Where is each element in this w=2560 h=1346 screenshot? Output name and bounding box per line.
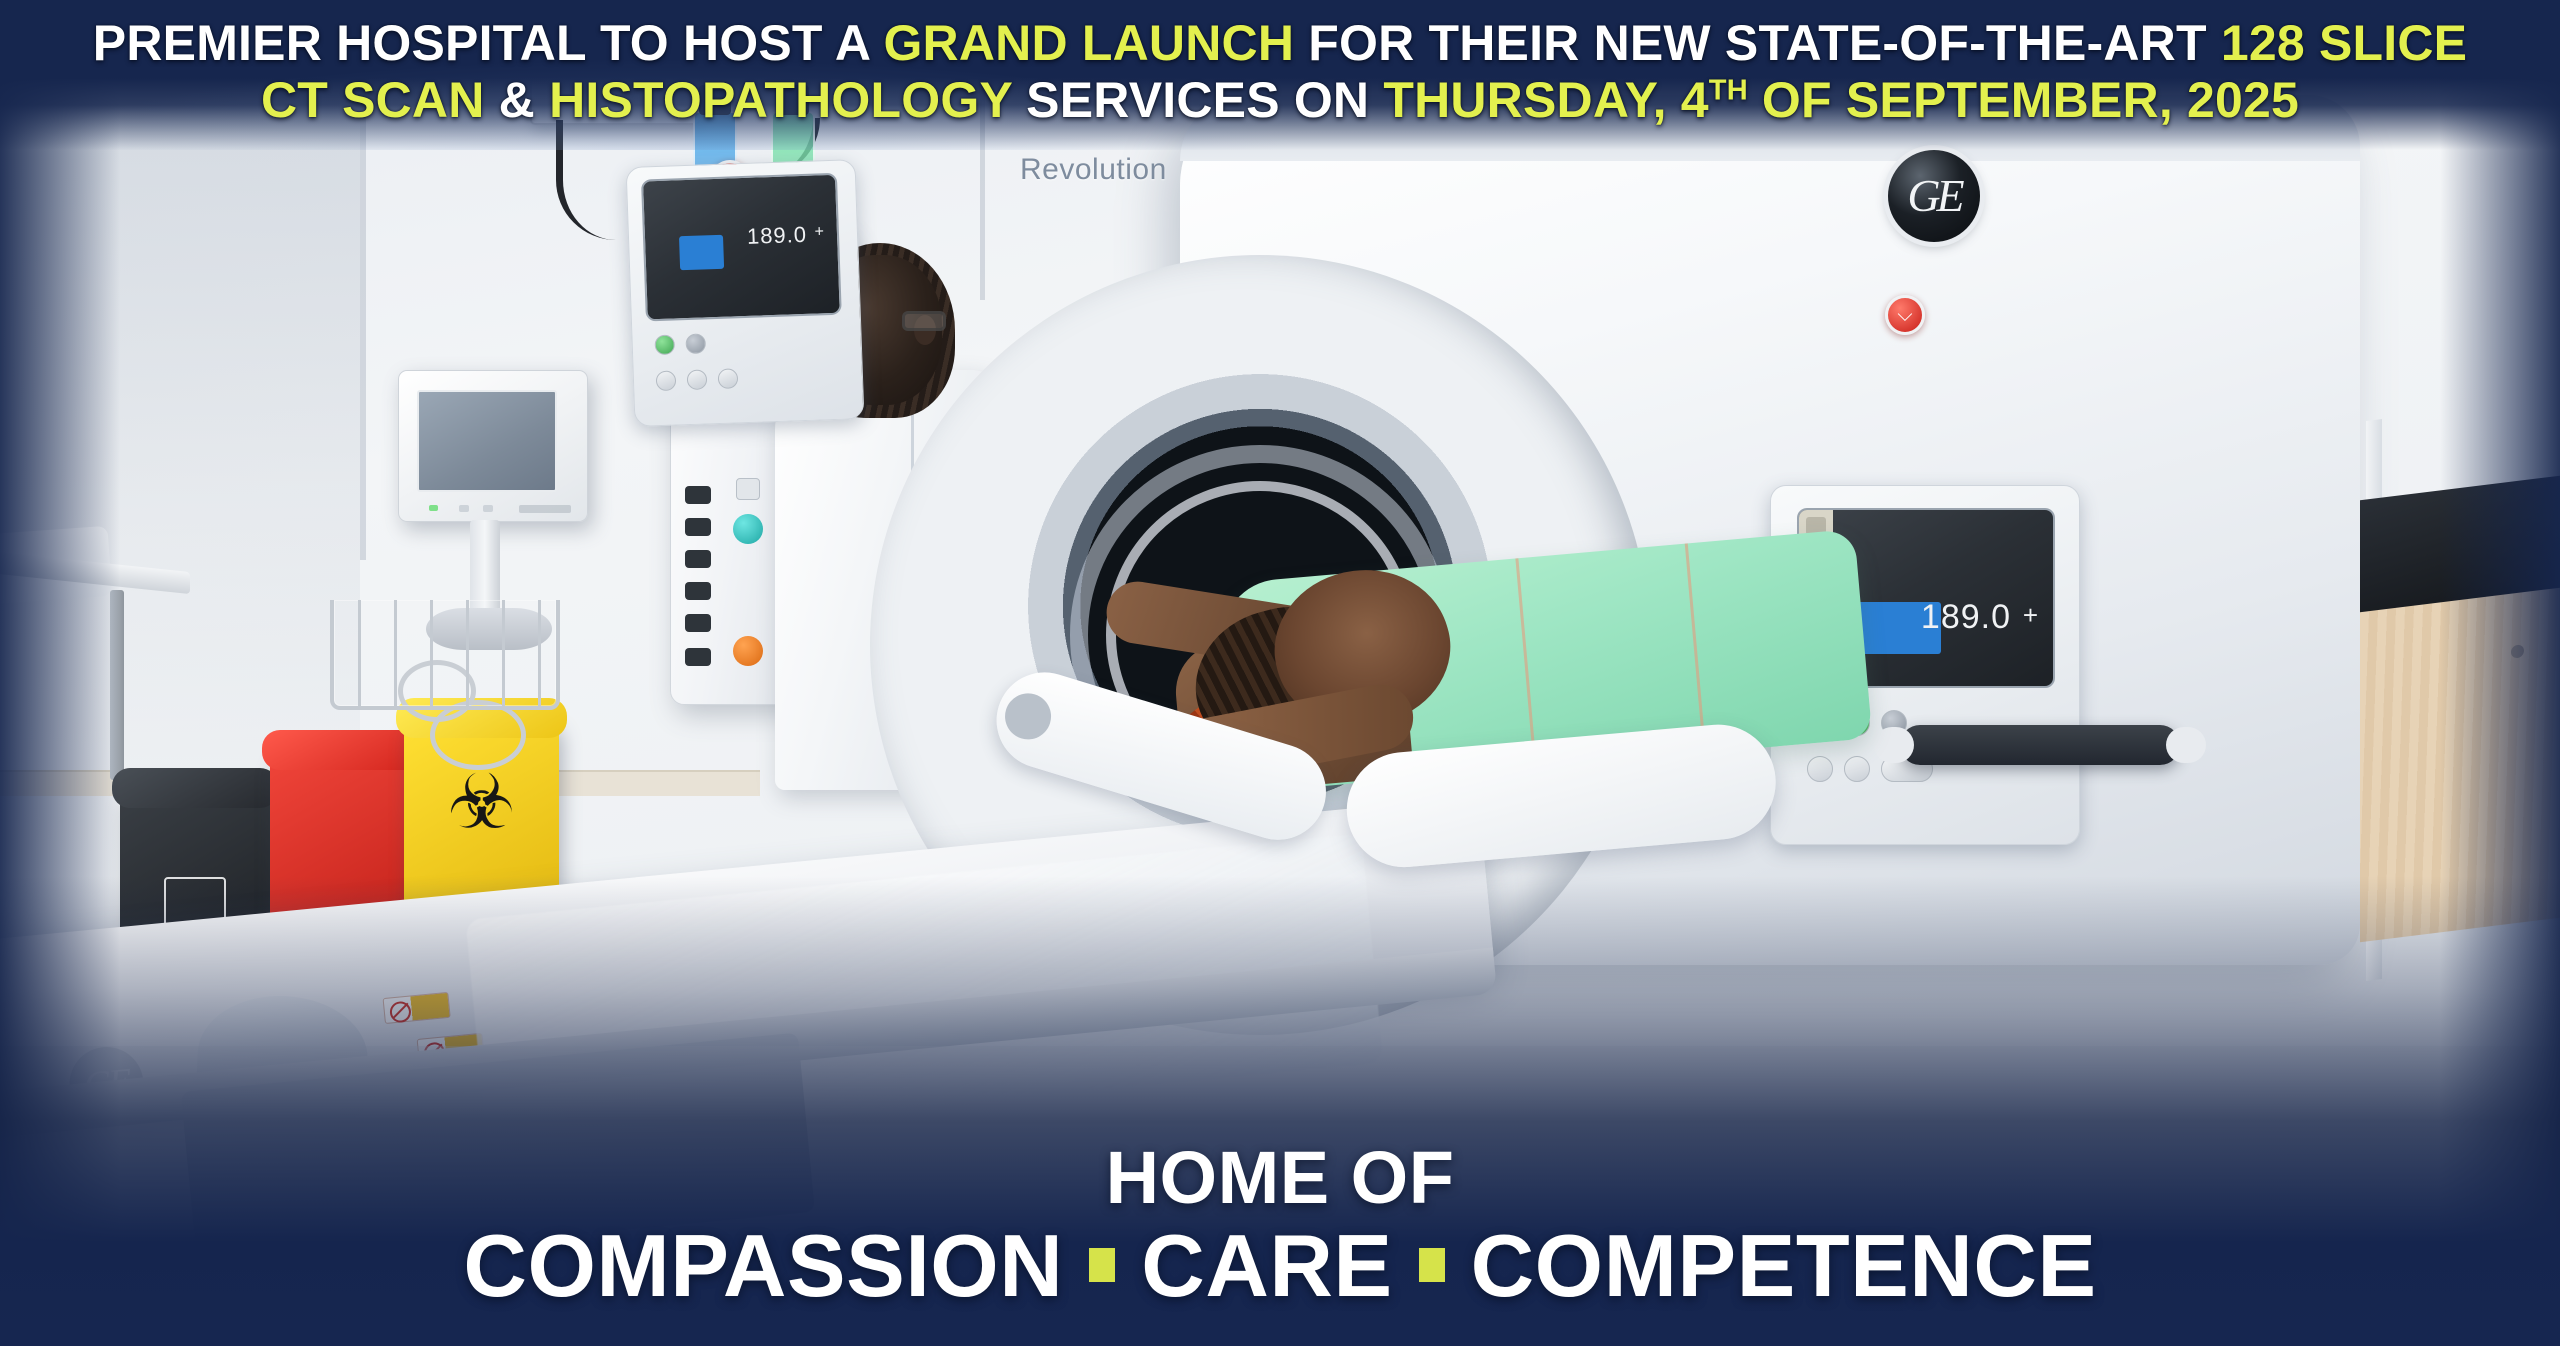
accessory-basket (330, 600, 560, 710)
injector-plus-button[interactable] (685, 648, 711, 666)
console-display-value: 189.0 (747, 222, 808, 250)
monitor-button[interactable] (483, 505, 493, 512)
tagline-word-competence: COMPETENCE (1471, 1219, 2097, 1312)
console-display-unit: + (814, 223, 825, 241)
tagline-word-compassion: COMPASSION (463, 1219, 1063, 1312)
headline-highlight-128-slice: 128 SLICE (2221, 15, 2467, 71)
console-button[interactable] (656, 370, 677, 391)
injector-step-button[interactable] (685, 550, 711, 568)
monitor-body (398, 370, 588, 522)
headline-text-part: FOR THEIR NEW STATE-OF-THE-ART (1294, 15, 2221, 71)
date-text: THURSDAY, 4 (1383, 72, 1708, 128)
monitor-screen (417, 390, 557, 492)
tagline-line-1: HOME OF (0, 1141, 2560, 1215)
tagline-separator-square-icon (1419, 1248, 1445, 1282)
scanner-product-name: Revolution (1020, 153, 1167, 187)
injector-up-button[interactable] (685, 486, 711, 504)
eyeglasses (902, 311, 946, 331)
gantry-display-unit: + (2023, 600, 2039, 631)
date-text: OF SEPTEMBER, 2025 (1748, 72, 2299, 128)
console-button-row[interactable] (654, 333, 706, 355)
scanner-console-panel[interactable]: 189.0 + (626, 159, 865, 427)
bin-lid (112, 768, 278, 808)
tagline-word-care: CARE (1141, 1219, 1392, 1312)
injector-down-button[interactable] (685, 614, 711, 632)
monitor-button[interactable] (459, 505, 469, 512)
gantry-display-value: 189.0 (1921, 598, 2011, 637)
headline-highlight-grand-launch: GRAND LAUNCH (883, 15, 1294, 71)
headline-text-part: & (485, 72, 550, 128)
headline-line-2: CT SCAN & HISTOPATHOLOGY SERVICES ON THU… (14, 75, 2546, 126)
console-button-row[interactable] (656, 368, 739, 391)
monitor-cable-coil (430, 700, 526, 770)
console-button[interactable] (685, 333, 706, 354)
console-display-screen: 189.0 + (641, 173, 842, 322)
tagline-separator-square-icon (1089, 1248, 1115, 1282)
tagline: HOME OF COMPASSION CARE COMPETENCE (0, 1141, 2560, 1312)
console-button[interactable] (718, 368, 739, 389)
headline-text-part: PREMIER HOSPITAL TO HOST A (93, 15, 884, 71)
injector-start-button[interactable] (733, 636, 763, 666)
headline-highlight-histopathology: HISTOPATHOLOGY (549, 72, 1012, 128)
injector-power-button[interactable] (736, 478, 760, 500)
promotional-banner: ☣ (0, 0, 2560, 1346)
gantry-button[interactable] (1844, 756, 1870, 782)
headline: PREMIER HOSPITAL TO HOST A GRAND LAUNCH … (0, 18, 2560, 126)
headline-text-part: SERVICES ON (1012, 72, 1383, 128)
console-protocol-tile[interactable] (679, 235, 724, 271)
ge-logo-text: GE (1907, 173, 1960, 219)
monitor-power-led (429, 505, 438, 511)
injector-step-button[interactable] (685, 518, 711, 536)
injector-select-button[interactable] (733, 514, 763, 544)
console-button[interactable] (687, 369, 708, 390)
tagline-line-2: COMPASSION CARE COMPETENCE (0, 1219, 2560, 1312)
injector-down-button[interactable] (685, 582, 711, 600)
monitor-stand-neck (470, 520, 500, 612)
ge-logo-icon: GE (1888, 150, 1980, 242)
headline-highlight-ct-scan: CT SCAN (261, 72, 485, 128)
gantry-grab-handle[interactable] (1900, 725, 2180, 765)
headline-line-1: PREMIER HOSPITAL TO HOST A GRAND LAUNCH … (93, 15, 2467, 71)
monitor-brand-mark (519, 505, 571, 513)
date-ordinal-suffix: TH (1709, 74, 1748, 106)
headline-highlight-date: THURSDAY, 4TH OF SEPTEMBER, 2025 (1383, 72, 2299, 128)
console-confirm-button[interactable] (654, 334, 675, 355)
emergency-stop-button-upper[interactable]: ⌵ (1885, 295, 1925, 335)
